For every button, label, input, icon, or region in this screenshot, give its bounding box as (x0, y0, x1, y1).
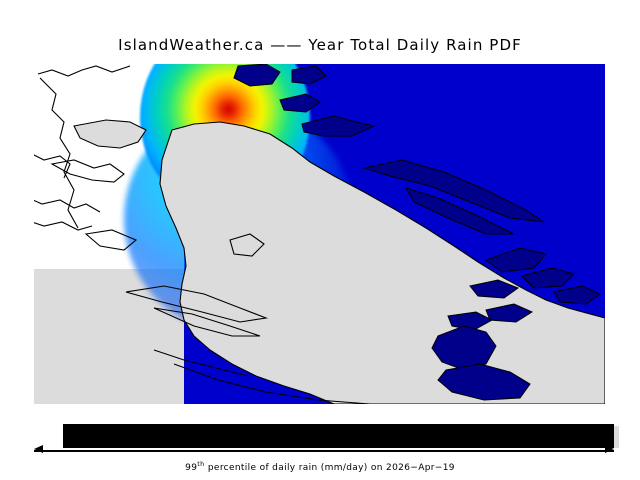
colorbar-gradient (63, 424, 614, 448)
colorbar-overflow-cap (614, 426, 619, 448)
page-title: IslandWeather.ca —— Year Total Daily Rai… (0, 36, 640, 54)
caption-rest: percentile of daily rain (mm/day) on 202… (205, 463, 455, 473)
colorbar-right-arrow-icon (605, 445, 614, 453)
island-northwest-tip (74, 120, 146, 148)
coastline-overlay (34, 64, 605, 404)
island-inlet-1 (52, 160, 124, 182)
mainland-fjord-4 (34, 220, 92, 230)
marine-patch-north-3 (280, 94, 320, 112)
colorbar-axis-line (34, 450, 614, 452)
mainland-coastline (38, 66, 130, 76)
caption-percentile-suffix: th (197, 460, 204, 468)
colorbar[interactable] (34, 424, 614, 458)
gulf-island-2 (522, 268, 574, 288)
caption-percentile-number: 99 (185, 463, 197, 473)
gulf-island-1 (486, 248, 546, 272)
marine-patch-north-2 (292, 66, 326, 84)
map-panel[interactable] (34, 64, 605, 404)
mainland-fjord-3 (34, 196, 100, 212)
island-inlet-2 (86, 230, 136, 250)
marine-patch-north-4 (302, 116, 374, 136)
colorbar-caption: 99th percentile of daily rain (mm/day) o… (0, 460, 640, 473)
colorbar-left-arrow-icon (34, 445, 43, 453)
mainland-fjord-1 (40, 78, 78, 228)
screenshot-canvas: IslandWeather.ca —— Year Total Daily Rai… (0, 0, 640, 480)
gulf-island-3 (554, 286, 600, 304)
marine-patch-north-1 (234, 64, 280, 86)
